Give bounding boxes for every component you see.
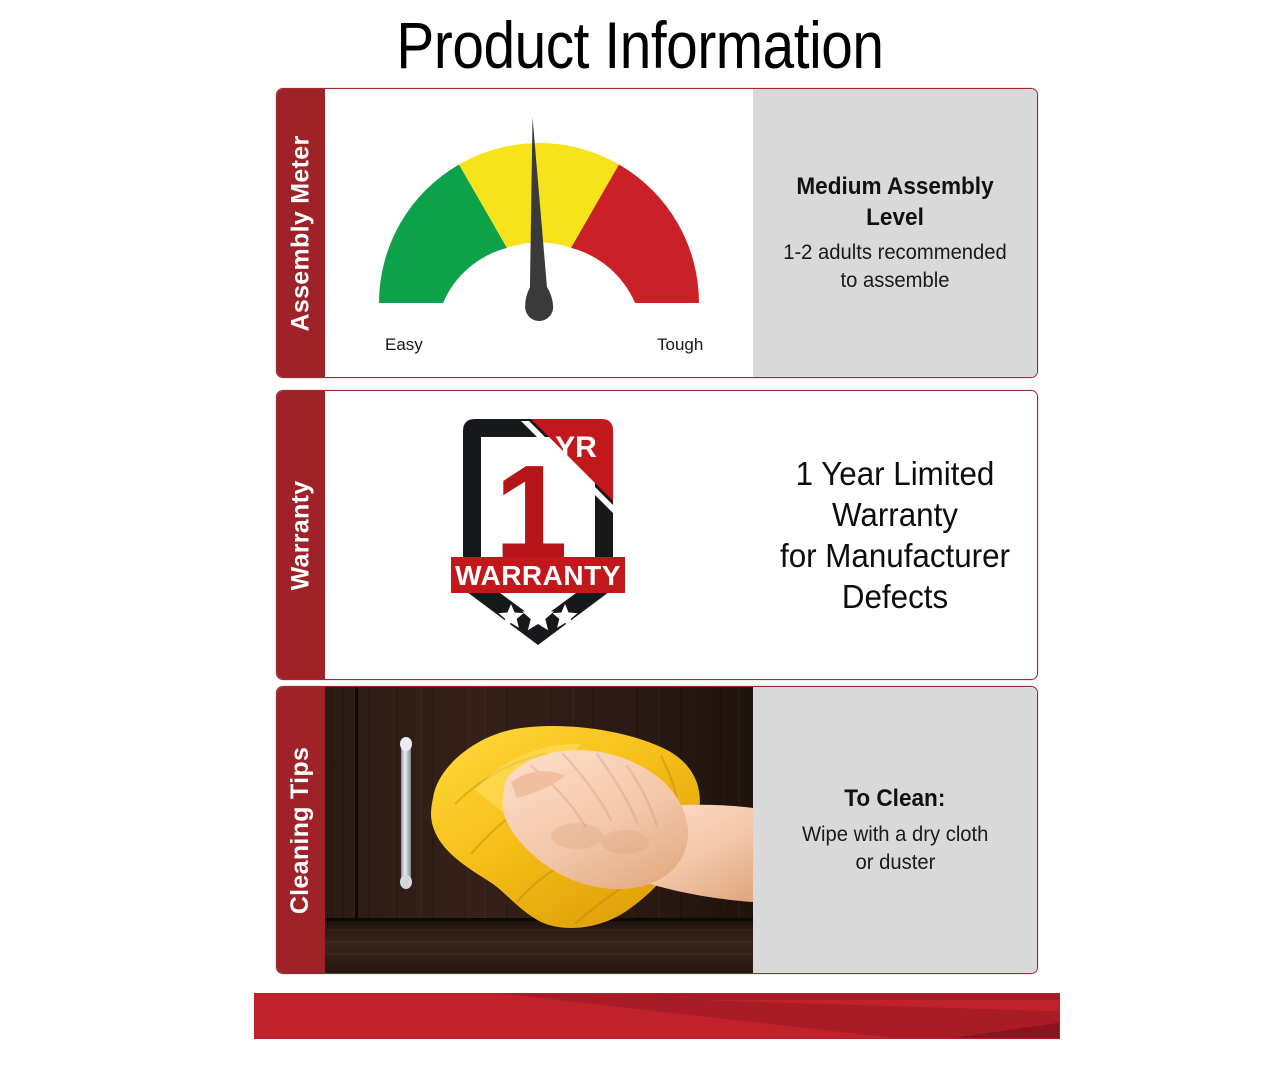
panel-tab-assembly-meter: Assembly Meter <box>277 89 325 377</box>
assembly-subtext: 1-2 adults recommended to assemble <box>778 239 1011 295</box>
warranty-text-area: 1 Year Limited Warranty for Manufacturer… <box>753 391 1037 679</box>
warranty-text-line-2: for Manufacturer Defects <box>777 535 1013 618</box>
panel-tab-label: Assembly Meter <box>287 135 316 331</box>
assembly-gauge-icon <box>347 111 731 341</box>
cleaning-photo <box>325 687 753 973</box>
panel-body-assembly: Easy Tough Medium Assembly Level 1-2 adu… <box>325 89 1037 377</box>
bottom-accent-bar <box>254 993 1060 1039</box>
panel-tab-warranty: Warranty <box>277 391 325 679</box>
panel-tab-label: Cleaning Tips <box>287 746 316 913</box>
warranty-band-label: WARRANTY <box>455 560 621 591</box>
cleaning-heading: To Clean: <box>844 783 945 814</box>
cabinet-handle-icon <box>400 737 412 889</box>
warranty-badge-area: YR 1 WARRANTY <box>325 391 753 679</box>
bottom-bar-shape <box>255 994 1059 1038</box>
cleaning-text-area: To Clean: Wipe with a dry cloth or duste… <box>753 687 1037 973</box>
panel-tab-cleaning-tips: Cleaning Tips <box>277 687 325 973</box>
panel-tab-label: Warranty <box>287 480 316 590</box>
assembly-heading: Medium Assembly Level <box>778 171 1011 233</box>
warranty-badge-wrap: YR 1 WARRANTY <box>443 409 633 659</box>
assembly-gauge-area: Easy Tough <box>325 89 753 377</box>
gauge-label-easy: Easy <box>385 335 423 355</box>
cleaning-subtext-line-2: or duster <box>855 849 935 877</box>
assembly-text-area: Medium Assembly Level 1-2 adults recomme… <box>753 89 1037 377</box>
panel-body-warranty: YR 1 WARRANTY 1 Year Limited Warranty <box>325 391 1037 679</box>
panel-warranty: Warranty <box>276 390 1038 680</box>
panel-body-cleaning: To Clean: Wipe with a dry cloth or duste… <box>325 687 1037 973</box>
gauge-label-tough: Tough <box>657 335 703 355</box>
warranty-shield-icon: YR 1 WARRANTY <box>443 409 633 659</box>
page-title: Product Information <box>90 8 1191 84</box>
cleaning-photo-area <box>325 687 753 973</box>
warranty-text-line-1: 1 Year Limited Warranty <box>777 453 1013 536</box>
gauge-wrap: Easy Tough <box>325 89 753 377</box>
cleaning-subtext-line-1: Wipe with a dry cloth <box>802 821 988 849</box>
cleaning-photo-illustration <box>325 687 753 973</box>
panel-cleaning-tips: Cleaning Tips <box>276 686 1038 974</box>
panel-assembly-meter: Assembly Meter Easy <box>276 88 1038 378</box>
